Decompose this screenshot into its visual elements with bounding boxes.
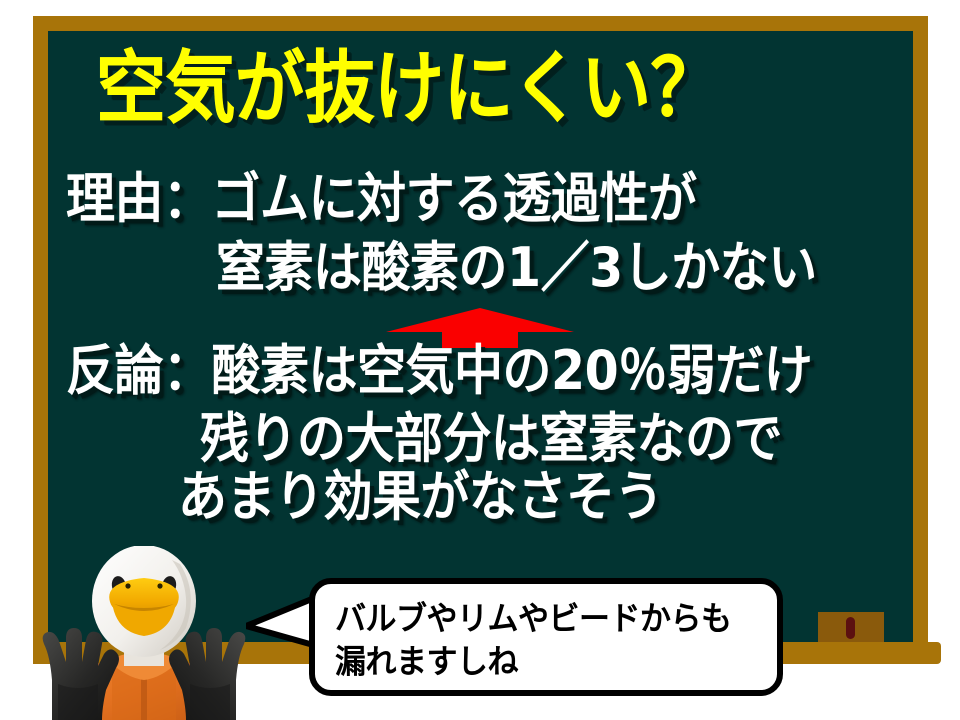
counter-line-2: 残りの大部分は窒素なので (200, 412, 782, 466)
slide-canvas: 空気が抜けにくい？ 理由：ゴムに対する透過性が 窒素は酸素の1／3しかない 反論… (0, 0, 960, 720)
counter-line-1: 反論：酸素は空気中の20％弱だけ (66, 344, 812, 398)
reason-line-1: 理由：ゴムに対する透過性が (66, 172, 697, 226)
speech-bubble-text: バルブやリムやビードからも 漏れますしね (335, 598, 775, 685)
chalk-stick-icon (846, 617, 855, 639)
duck-mask-presenter-icon (8, 546, 280, 720)
page-title: 空気が抜けにくい？ (96, 49, 720, 127)
counter-line-3: あまり効果がなさそう (178, 470, 663, 524)
speech-bubble: バルブやリムやビードからも 漏れますしね (309, 578, 783, 696)
reason-line-2: 窒素は酸素の1／3しかない (216, 241, 817, 295)
